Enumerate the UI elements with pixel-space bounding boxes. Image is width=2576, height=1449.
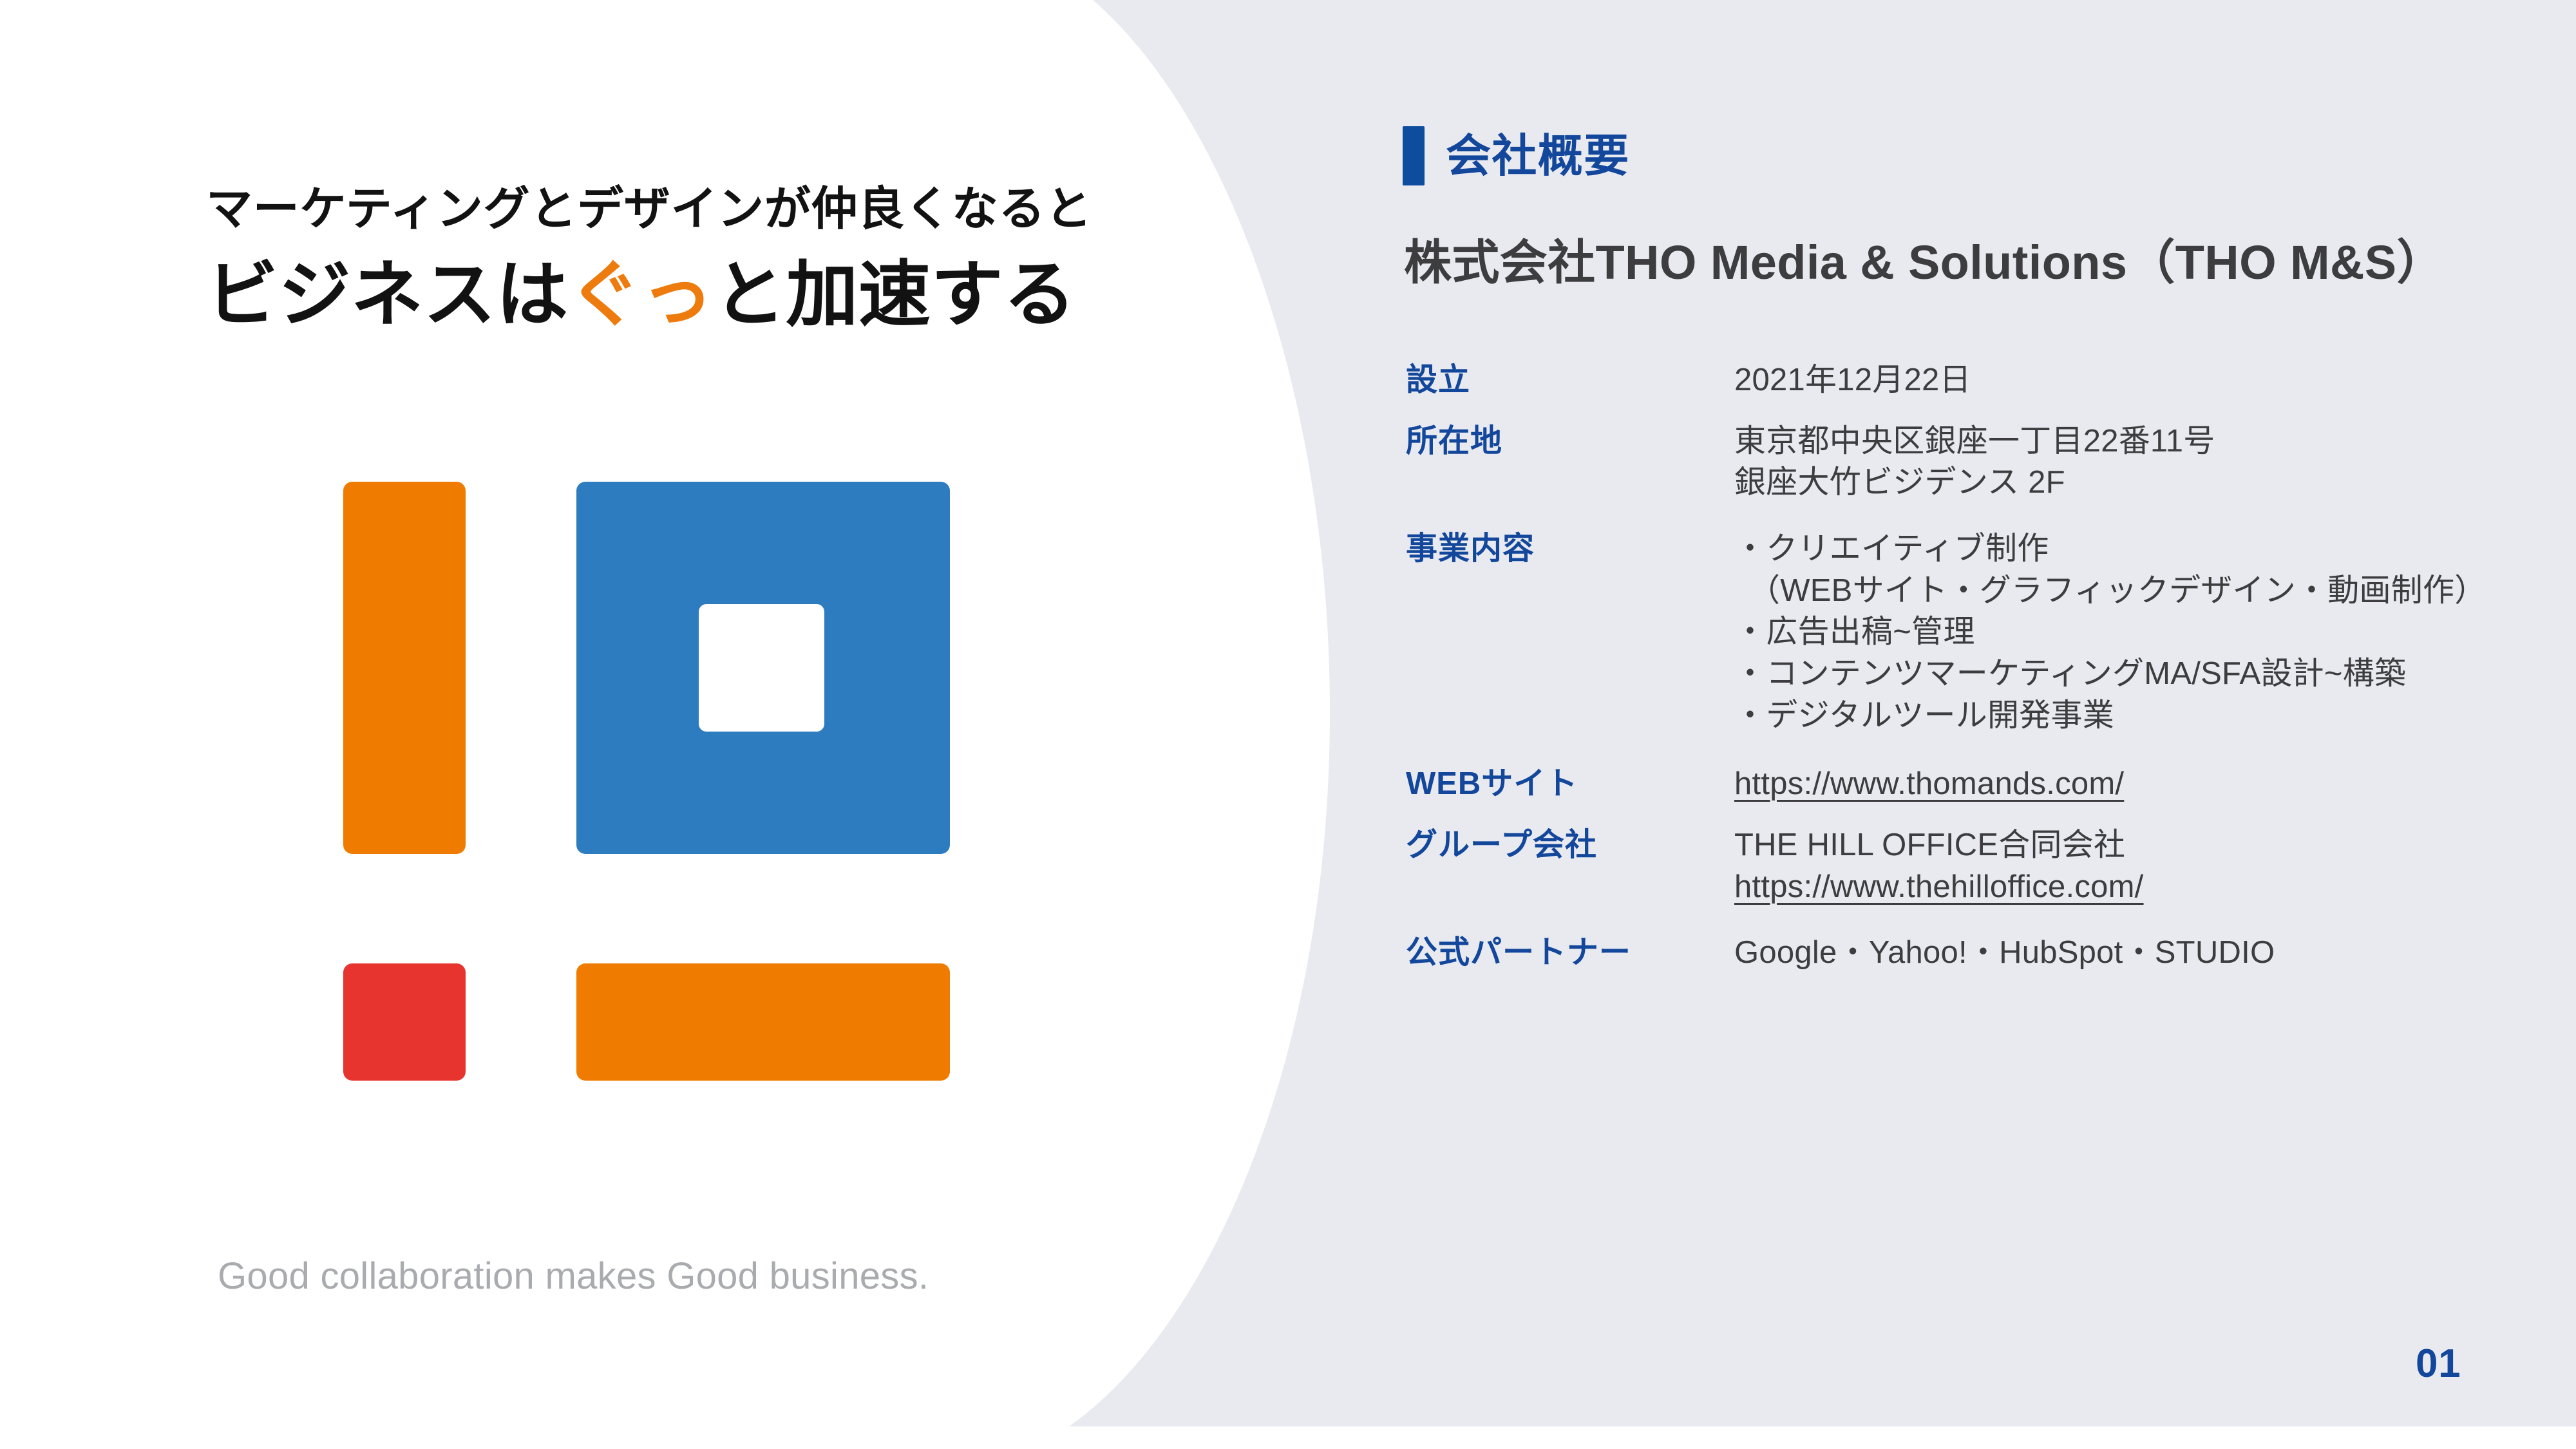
row-value-line: （WEBサイト・グラフィックデザイン・動画制作） <box>1734 570 2514 612</box>
logo-red-square-icon <box>343 963 466 1081</box>
section-title: 会社概要 <box>1446 133 1630 178</box>
page-number: 01 <box>2416 1341 2461 1387</box>
logo-orange-horizontal-bar-icon <box>576 963 950 1081</box>
row-value-line: THE HILL OFFICE合同会社 <box>1734 824 2514 866</box>
row-value: 2021年12月22日 <box>1734 359 2514 401</box>
row-value-line: ・デジタルツール開発事業 <box>1734 695 2514 737</box>
row-label: グループ会社 <box>1406 824 1734 866</box>
logo-white-inner-square-icon <box>699 604 824 732</box>
logo-orange-vertical-bar-icon <box>343 482 466 854</box>
external-link[interactable]: https://www.thehilloffice.com/ <box>1734 869 2144 904</box>
table-row: 所在地 東京都中央区銀座一丁目22番11号銀座大竹ビジデンス 2F <box>1406 421 2514 504</box>
headline-main-pre: ビジネスは <box>206 254 569 335</box>
external-link[interactable]: https://www.thomands.com/ <box>1734 766 2124 801</box>
table-row: グループ会社 THE HILL OFFICE合同会社https://www.th… <box>1406 824 2514 907</box>
row-value-line: 2021年12月22日 <box>1734 359 2514 401</box>
company-logo-mark <box>343 482 955 1081</box>
table-row: 事業内容 ・クリエイティブ制作（WEBサイト・グラフィックデザイン・動画制作）・… <box>1406 528 2514 736</box>
left-headline-block: マーケティングとデザインが仲良くなると ビジネスはぐっと加速する <box>206 180 1121 337</box>
table-row: 設立 2021年12月22日 <box>1406 359 2514 401</box>
section-header: 会社概要 <box>1403 126 1630 185</box>
row-value: https://www.thomands.com/ <box>1734 763 2514 805</box>
row-value-line: ・広告出稿~管理 <box>1734 611 2514 653</box>
row-value-line: 東京都中央区銀座一丁目22番11号 <box>1734 421 2514 462</box>
row-label: WEBサイト <box>1406 763 1734 805</box>
headline-main-accent: ぐっ <box>569 254 714 335</box>
headline-subtitle: マーケティングとデザインが仲良くなると <box>206 180 1121 238</box>
table-row: 公式パートナー Google・Yahoo!・HubSpot・STUDIO <box>1406 932 2514 974</box>
row-value: 東京都中央区銀座一丁目22番11号銀座大竹ビジデンス 2F <box>1734 421 2514 504</box>
row-value-line: ・クリエイティブ制作 <box>1734 528 2514 570</box>
row-label: 設立 <box>1406 359 1734 401</box>
row-value-line: ・コンテンツマーケティングMA/SFA設計~構築 <box>1734 653 2514 695</box>
row-label: 公式パートナー <box>1406 932 1734 974</box>
headline-main-post: と加速する <box>714 254 1076 335</box>
tagline: Good collaboration makes Good business. <box>218 1255 929 1298</box>
row-value-line: 銀座大竹ビジデンス 2F <box>1734 462 2514 504</box>
slide-canvas: マーケティングとデザインが仲良くなると ビジネスはぐっと加速する Good co… <box>0 0 2576 1449</box>
row-value-link[interactable]: https://www.thehilloffice.com/ <box>1734 866 2514 908</box>
row-value: ・クリエイティブ制作（WEBサイト・グラフィックデザイン・動画制作）・広告出稿~… <box>1734 528 2514 736</box>
headline-main: ビジネスはぐっと加速する <box>206 252 1121 337</box>
row-value: Google・Yahoo!・HubSpot・STUDIO <box>1734 932 2514 974</box>
row-label: 所在地 <box>1406 421 1734 462</box>
row-value-link[interactable]: https://www.thomands.com/ <box>1734 763 2514 805</box>
company-info-table: 設立 2021年12月22日 所在地 東京都中央区銀座一丁目22番11号銀座大竹… <box>1406 359 2514 974</box>
row-label: 事業内容 <box>1406 528 1734 570</box>
company-name-heading: 株式会社THO Media & Solutions（THO M&S） <box>1404 224 2445 293</box>
row-value: THE HILL OFFICE合同会社https://www.thehillof… <box>1734 824 2514 907</box>
section-accent-bar-icon <box>1403 126 1425 185</box>
table-row: WEBサイト https://www.thomands.com/ <box>1406 763 2514 805</box>
row-value-line: Google・Yahoo!・HubSpot・STUDIO <box>1734 932 2514 974</box>
